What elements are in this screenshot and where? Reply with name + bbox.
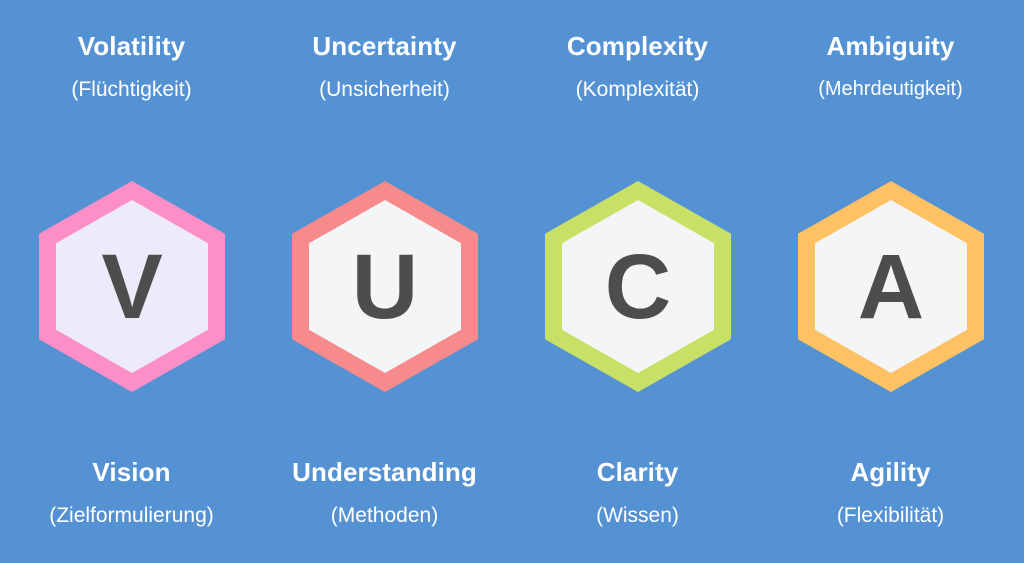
- hexagon-letter-c: C: [605, 241, 671, 333]
- top-label-group-c: Complexity (Komplexität): [511, 33, 764, 100]
- bottom-subtitle-agility: (Flexibilität): [764, 505, 1017, 526]
- top-subtitle-complexity: (Komplexität): [511, 79, 764, 100]
- bottom-subtitle-understanding: (Methoden): [258, 505, 511, 526]
- vuca-column-c: Complexity (Komplexität) C Clarity (Wiss…: [511, 0, 764, 563]
- hexagon-letter-u: U: [352, 241, 418, 333]
- vuca-column-u: Uncertainty (Unsicherheit) U Understandi…: [258, 0, 511, 563]
- hexagon-u[interactable]: U: [292, 181, 478, 392]
- bottom-title-understanding: Understanding: [258, 459, 511, 485]
- top-label-group-a: Ambiguity (Mehrdeutigkeit): [764, 33, 1017, 99]
- top-title-uncertainty: Uncertainty: [258, 33, 511, 59]
- bottom-title-agility: Agility: [764, 459, 1017, 485]
- hexagon-letter-a: A: [858, 241, 924, 333]
- bottom-title-clarity: Clarity: [511, 459, 764, 485]
- top-subtitle-ambiguity: (Mehrdeutigkeit): [764, 79, 1017, 99]
- hexagon-letter-v: V: [101, 241, 162, 333]
- bottom-label-group-u: Understanding (Methoden): [258, 459, 511, 526]
- hexagon-v[interactable]: V: [39, 181, 225, 392]
- top-title-volatility: Volatility: [5, 33, 258, 59]
- bottom-label-group-a: Agility (Flexibilität): [764, 459, 1017, 526]
- top-title-ambiguity: Ambiguity: [764, 33, 1017, 59]
- top-subtitle-volatility: (Flüchtigkeit): [5, 79, 258, 100]
- top-label-group-u: Uncertainty (Unsicherheit): [258, 33, 511, 100]
- bottom-label-group-v: Vision (Zielformulierung): [5, 459, 258, 526]
- hexagon-a[interactable]: A: [798, 181, 984, 392]
- top-title-complexity: Complexity: [511, 33, 764, 59]
- bottom-subtitle-clarity: (Wissen): [511, 505, 764, 526]
- vuca-column-v: Volatility (Flüchtigkeit) V Vision (Ziel…: [5, 0, 258, 563]
- top-subtitle-uncertainty: (Unsicherheit): [258, 79, 511, 100]
- bottom-subtitle-vision: (Zielformulierung): [5, 505, 258, 526]
- vuca-column-a: Ambiguity (Mehrdeutigkeit) A Agility (Fl…: [764, 0, 1017, 563]
- hexagon-c[interactable]: C: [545, 181, 731, 392]
- top-label-group-v: Volatility (Flüchtigkeit): [5, 33, 258, 100]
- bottom-label-group-c: Clarity (Wissen): [511, 459, 764, 526]
- vuca-diagram: Volatility (Flüchtigkeit) V Vision (Ziel…: [0, 0, 1024, 563]
- bottom-title-vision: Vision: [5, 459, 258, 485]
